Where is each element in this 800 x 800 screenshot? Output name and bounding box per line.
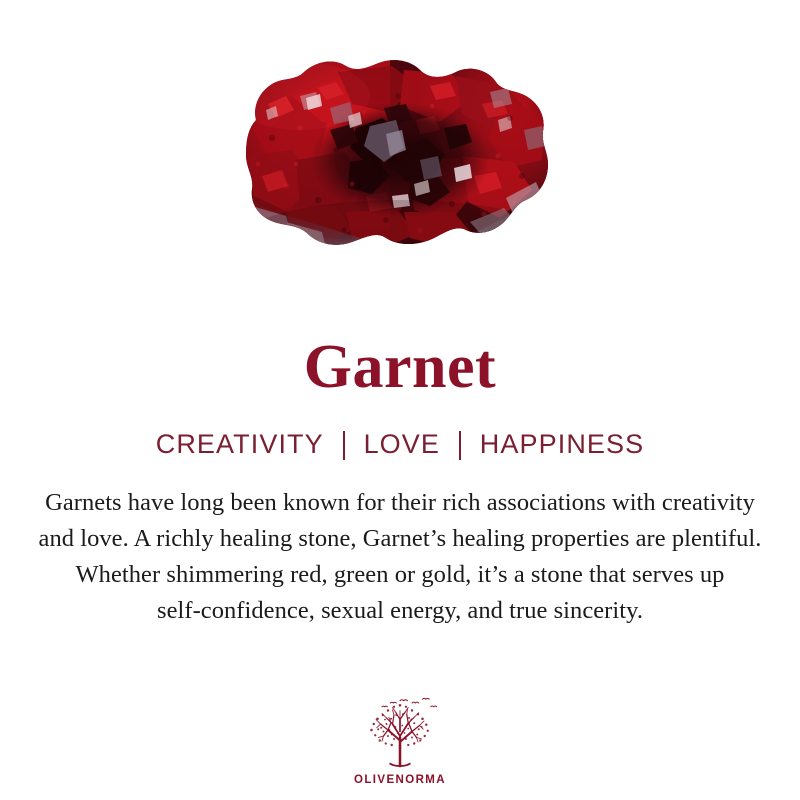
- stone-body: [230, 50, 560, 280]
- raw-garnet-crystal-illustration: [0, 0, 800, 300]
- description-line: Whether shimmering red, green or gold, i…: [20, 557, 780, 593]
- brand-logo[interactable]: OLIVENORMA: [0, 694, 800, 787]
- keyword-love: LOVE: [364, 431, 440, 458]
- brand-wordmark: OLIVENORMA: [354, 775, 446, 787]
- description-line: Garnets have long been known for their r…: [20, 485, 780, 521]
- garnet-info-card: Garnet CREATIVITY LOVE HAPPINESS Garnets…: [0, 0, 800, 800]
- description-line: self-confidence, sexual energy, and true…: [20, 593, 780, 629]
- page-title: Garnet: [304, 336, 496, 398]
- description-line: and love. A richly healing stone, Garnet…: [20, 521, 780, 557]
- flying-birds: [382, 698, 437, 706]
- keyword-separator: [343, 431, 345, 460]
- description-paragraph: Garnets have long been known for their r…: [20, 485, 780, 629]
- keyword-separator: [459, 431, 461, 460]
- keyword-list: CREATIVITY LOVE HAPPINESS: [156, 430, 645, 459]
- keyword-creativity: CREATIVITY: [156, 431, 324, 458]
- gemstone-image: [0, 0, 800, 300]
- keyword-happiness: HAPPINESS: [480, 431, 644, 458]
- tree-with-birds-icon: [354, 694, 446, 772]
